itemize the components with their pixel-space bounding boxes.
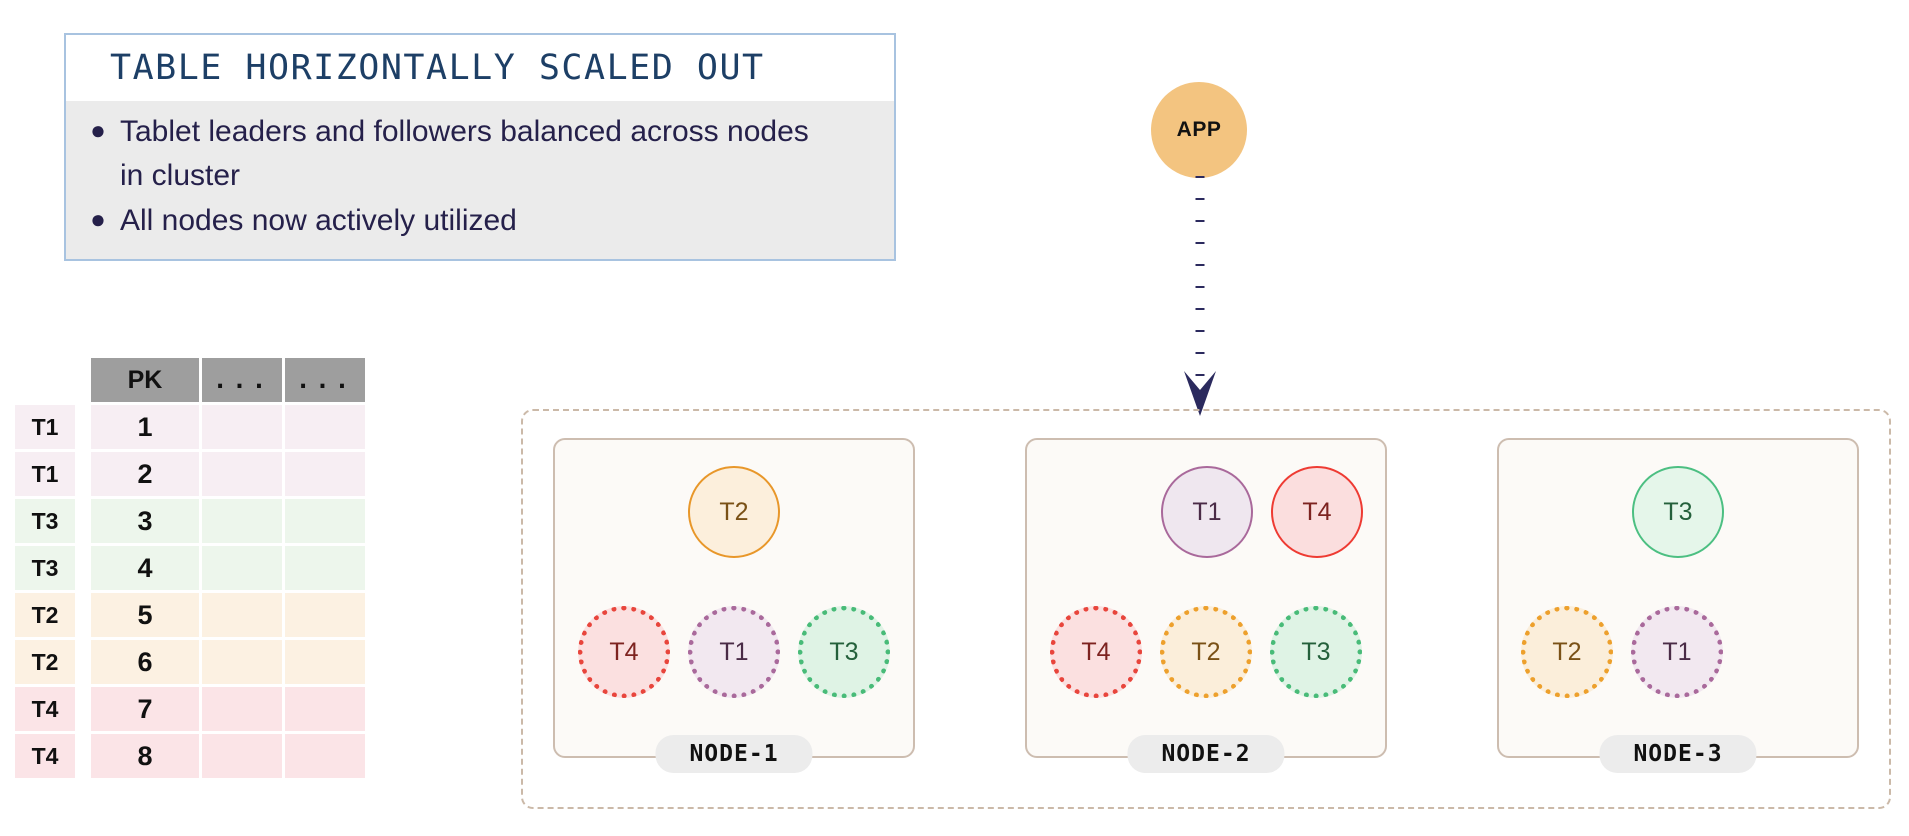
table-row: T25 [15, 593, 365, 637]
callout-title: TABLE HORIZONTALLY SCALED OUT [66, 35, 894, 101]
cell-pk: 1 [91, 405, 199, 449]
cell-pk: 8 [91, 734, 199, 778]
leader-tablets-row: T2 [555, 466, 913, 558]
cell-pk: 5 [91, 593, 199, 637]
tablet-follower: T1 [1631, 606, 1723, 698]
tablet-follower: T3 [798, 606, 890, 698]
table-gap-cell [78, 640, 88, 684]
leader-tablets-row: T3 [1499, 466, 1857, 558]
tablet-follower: T2 [1521, 606, 1613, 698]
cluster-boundary: T2T4T1T3NODE-1T1T4T4T2T3NODE-2T3T2T1NODE… [521, 409, 1891, 809]
table-gap-cell [78, 358, 88, 402]
tablet-leader: T2 [688, 466, 780, 558]
row-tablet-label: T1 [15, 405, 75, 449]
cell-blank-1 [202, 452, 282, 496]
table-row: T48 [15, 734, 365, 778]
cell-blank-1 [202, 687, 282, 731]
column-header-ellipsis-2: ... [285, 358, 365, 402]
cell-blank-1 [202, 640, 282, 684]
cell-pk: 4 [91, 546, 199, 590]
row-tablet-label: T2 [15, 640, 75, 684]
row-tablet-label: T4 [15, 734, 75, 778]
table-header-row: PK ... ... [15, 358, 365, 402]
app-node: APP [1151, 82, 1247, 178]
node-box: T1T4T4T2T3NODE-2 [1025, 438, 1387, 758]
node-label: NODE-3 [1599, 735, 1756, 773]
table-body: T11T12T33T34T25T26T47T48 [15, 405, 365, 778]
table-gap-cell [78, 734, 88, 778]
table-row: T11 [15, 405, 365, 449]
cell-blank-2 [285, 593, 365, 637]
cell-blank-1 [202, 734, 282, 778]
cell-pk: 6 [91, 640, 199, 684]
table-row: T47 [15, 687, 365, 731]
tablet-follower: T1 [688, 606, 780, 698]
bullet-dot-icon: ● [76, 110, 120, 150]
node-box: T2T4T1T3NODE-1 [553, 438, 915, 758]
tablet-follower: T3 [1270, 606, 1362, 698]
node-label: NODE-1 [655, 735, 812, 773]
tablet-follower: T4 [578, 606, 670, 698]
cell-pk: 3 [91, 499, 199, 543]
node-label: NODE-2 [1127, 735, 1284, 773]
follower-tablets-row: T2T1 [1499, 606, 1857, 698]
cell-blank-2 [285, 734, 365, 778]
row-tablet-label: T4 [15, 687, 75, 731]
cell-blank-2 [285, 405, 365, 449]
cell-blank-1 [202, 546, 282, 590]
leader-tablets-row: T1T4 [1027, 466, 1385, 558]
node-box: T3T2T1NODE-3 [1497, 438, 1859, 758]
bullet-dot-icon: ● [76, 199, 120, 239]
app-node-label: APP [1177, 118, 1222, 142]
callout-box: TABLE HORIZONTALLY SCALED OUT ● Tablet l… [64, 33, 896, 261]
callout-bullet-list: ● Tablet leaders and followers balanced … [66, 101, 894, 259]
column-header-ellipsis-1: ... [202, 358, 282, 402]
bullet-text: All nodes now actively utilized [120, 199, 820, 243]
cell-blank-2 [285, 499, 365, 543]
table-row: T34 [15, 546, 365, 590]
table-row: T26 [15, 640, 365, 684]
list-item: ● All nodes now actively utilized [76, 199, 884, 245]
cell-pk: 7 [91, 687, 199, 731]
cell-blank-2 [285, 546, 365, 590]
table-gap-cell [78, 546, 88, 590]
list-item: ● Tablet leaders and followers balanced … [76, 110, 884, 199]
cell-blank-1 [202, 593, 282, 637]
row-tablet-label: T2 [15, 593, 75, 637]
table-gap-cell [78, 687, 88, 731]
app-to-cluster-arrow-icon [1160, 176, 1240, 416]
table-row: T12 [15, 452, 365, 496]
table-corner-cell [15, 358, 75, 402]
follower-tablets-row: T4T2T3 [1027, 606, 1385, 698]
cell-blank-2 [285, 640, 365, 684]
table-gap-cell [78, 405, 88, 449]
cell-blank-1 [202, 405, 282, 449]
tablet-leader: T3 [1632, 466, 1724, 558]
tablet-follower: T2 [1160, 606, 1252, 698]
column-header-pk: PK [91, 358, 199, 402]
row-tablet-label: T3 [15, 546, 75, 590]
tablet-follower: T4 [1050, 606, 1142, 698]
table-header: PK ... ... [15, 358, 365, 402]
follower-tablets-row: T4T1T3 [555, 606, 913, 698]
bullet-text: Tablet leaders and followers balanced ac… [120, 110, 820, 197]
cluster-nodes-container: T2T4T1T3NODE-1T1T4T4T2T3NODE-2T3T2T1NODE… [523, 411, 1889, 807]
table-gap-cell [78, 593, 88, 637]
tablet-leader: T4 [1271, 466, 1363, 558]
row-tablet-label: T3 [15, 499, 75, 543]
table-row: T33 [15, 499, 365, 543]
data-table-wrapper: PK ... ... T11T12T33T34T25T26T47T48 [12, 355, 368, 781]
table-gap-cell [78, 452, 88, 496]
cell-blank-2 [285, 452, 365, 496]
cell-pk: 2 [91, 452, 199, 496]
cell-blank-1 [202, 499, 282, 543]
sharded-table: PK ... ... T11T12T33T34T25T26T47T48 [12, 355, 368, 781]
cell-blank-2 [285, 687, 365, 731]
table-gap-cell [78, 499, 88, 543]
row-tablet-label: T1 [15, 452, 75, 496]
tablet-leader: T1 [1161, 466, 1253, 558]
